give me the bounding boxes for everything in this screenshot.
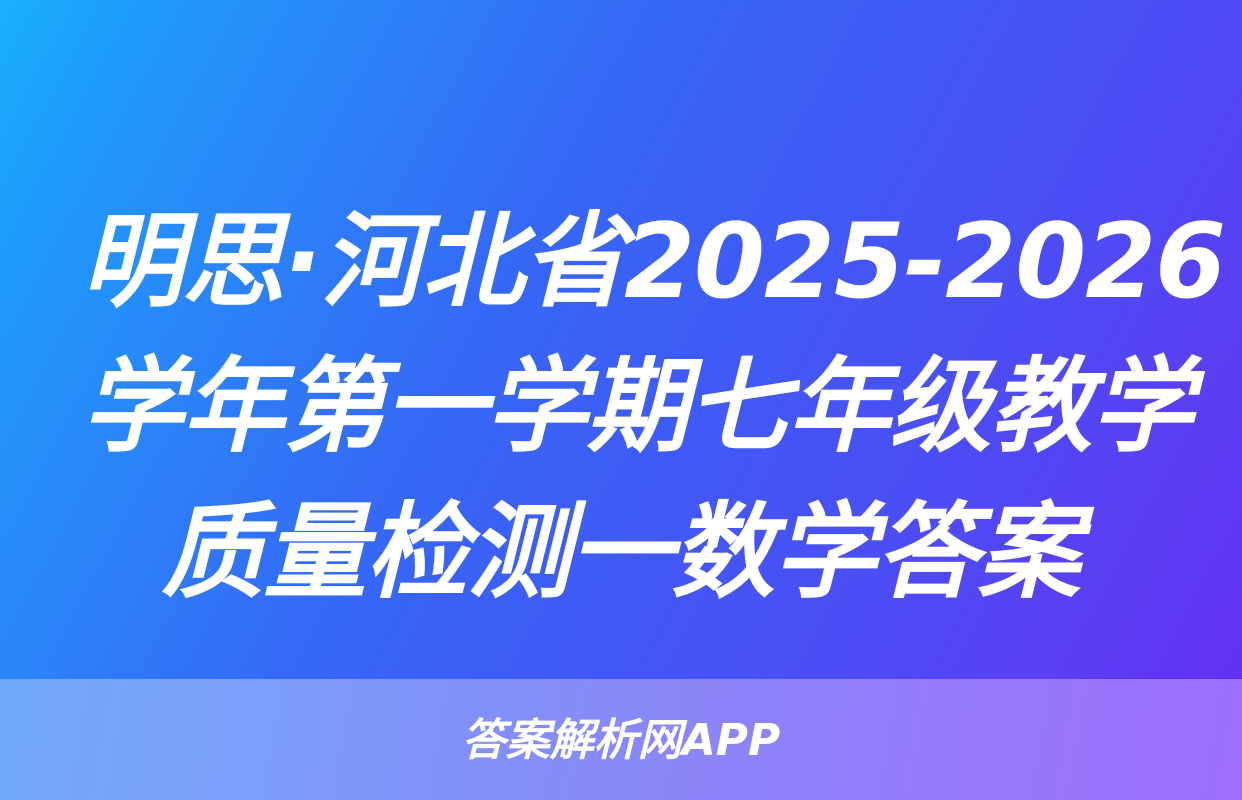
title-line-1: 明思·河北省2025-2026 bbox=[81, 190, 1160, 335]
app-brand-label: 答案解析网APP bbox=[462, 719, 781, 763]
page-title: 明思·河北省2025-2026 学年第一学期七年级教学 质量检测一数学答案 bbox=[0, 190, 1242, 620]
title-line-2: 学年第一学期七年级教学 bbox=[81, 335, 1160, 480]
hero-gradient-background: 明思·河北省2025-2026 学年第一学期七年级教学 质量检测一数学答案 bbox=[0, 0, 1242, 679]
promo-card: 明思·河北省2025-2026 学年第一学期七年级教学 质量检测一数学答案 答案… bbox=[0, 0, 1242, 800]
footer-band: 答案解析网APP bbox=[0, 679, 1242, 800]
title-line-3: 质量检测一数学答案 bbox=[162, 480, 1080, 625]
